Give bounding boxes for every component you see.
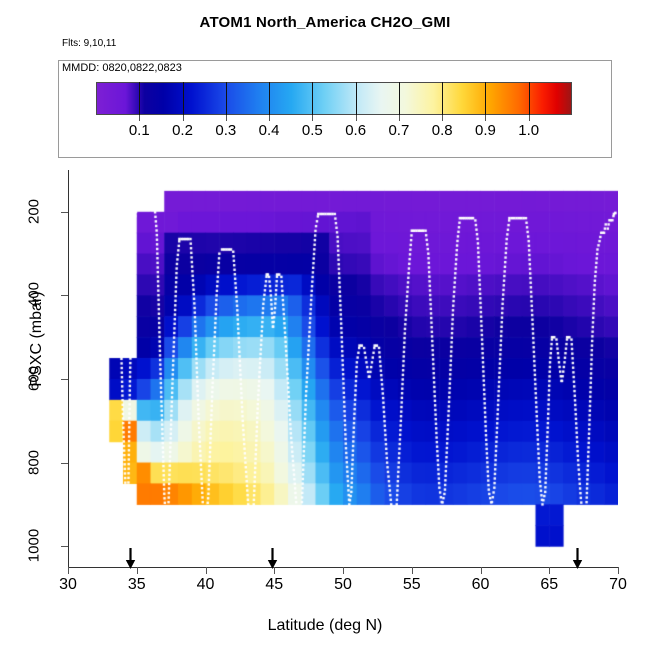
y-axis-tick [61, 295, 68, 296]
colorbar-tick [269, 115, 270, 121]
x-axis-title: Latitude (deg N) [0, 617, 650, 635]
colorbar-tick-label: 0.9 [462, 122, 508, 139]
colorbar-tick-label: 0.7 [376, 122, 422, 139]
x-axis-tick [206, 567, 207, 574]
colorbar-tick-label: 0.8 [419, 122, 465, 139]
colorbar-tick-label: 0.4 [246, 122, 292, 139]
y-axis-tick [61, 546, 68, 547]
x-axis-tick-label: 60 [455, 576, 507, 594]
mmdd-annotation: MMDD: 0820,0822,0823 [62, 62, 182, 74]
colorbar-tick [399, 115, 400, 121]
y-axis-title: PSXC (mbar) [28, 239, 46, 439]
colorbar-tick [312, 115, 313, 121]
colorbar-tick [529, 115, 530, 121]
x-axis-tick [343, 567, 344, 574]
colorbar-separator [312, 82, 313, 115]
colorbar-tick [226, 115, 227, 121]
y-axis-tick [61, 212, 68, 213]
x-axis-tick [481, 567, 482, 574]
x-axis-tick [137, 567, 138, 574]
x-axis-tick-label: 65 [523, 576, 575, 594]
x-axis-tick [549, 567, 550, 574]
colorbar-tick-label: 0.2 [160, 122, 206, 139]
colorbar-tick-label: 0.5 [289, 122, 335, 139]
y-axis-tick [61, 463, 68, 464]
colorbar-tick [356, 115, 357, 121]
x-axis-tick-label: 50 [317, 576, 369, 594]
flights-annotation: Flts: 9,10,11 [62, 38, 116, 49]
colorbar-tick [442, 115, 443, 121]
colorbar-separator [139, 82, 140, 115]
x-axis-tick-label: 55 [386, 576, 438, 594]
y-axis-tick-label: 800 [26, 436, 43, 488]
colorbar-tick [183, 115, 184, 121]
x-axis-tick-label: 30 [42, 576, 94, 594]
colorbar-tick [485, 115, 486, 121]
y-axis-tick-label: 1000 [26, 520, 43, 572]
x-axis-tick-label: 45 [248, 576, 300, 594]
x-axis-tick [412, 567, 413, 574]
colorbar-separator [529, 82, 530, 115]
x-axis-tick-label: 40 [180, 576, 232, 594]
latitude-arrow-marker [124, 548, 137, 575]
x-axis-tick-label: 35 [111, 576, 163, 594]
colorbar-gradient [97, 83, 571, 114]
colorbar-separator [226, 82, 227, 115]
y-axis-tick [61, 379, 68, 380]
colorbar-separator [485, 82, 486, 115]
colorbar-separator [442, 82, 443, 115]
latitude-arrow-marker [571, 548, 584, 575]
x-axis-tick [618, 567, 619, 574]
colorbar-tick [139, 115, 140, 121]
colorbar-tick-label: 0.1 [116, 122, 162, 139]
colorbar-tick-label: 0.6 [333, 122, 379, 139]
colorbar-separator [269, 82, 270, 115]
colorbar-separator [399, 82, 400, 115]
page-title: ATOM1 North_America CH2O_GMI [0, 14, 650, 31]
colorbar [96, 82, 572, 115]
colorbar-separator [183, 82, 184, 115]
y-axis-tick-label: 200 [26, 185, 43, 237]
plot-frame [68, 170, 618, 568]
colorbar-separator [356, 82, 357, 115]
latitude-arrow-marker [266, 548, 279, 575]
x-axis-tick [68, 567, 69, 574]
colorbar-tick-label: 1.0 [506, 122, 552, 139]
colorbar-tick-label: 0.3 [203, 122, 249, 139]
x-axis-tick-label: 70 [592, 576, 644, 594]
